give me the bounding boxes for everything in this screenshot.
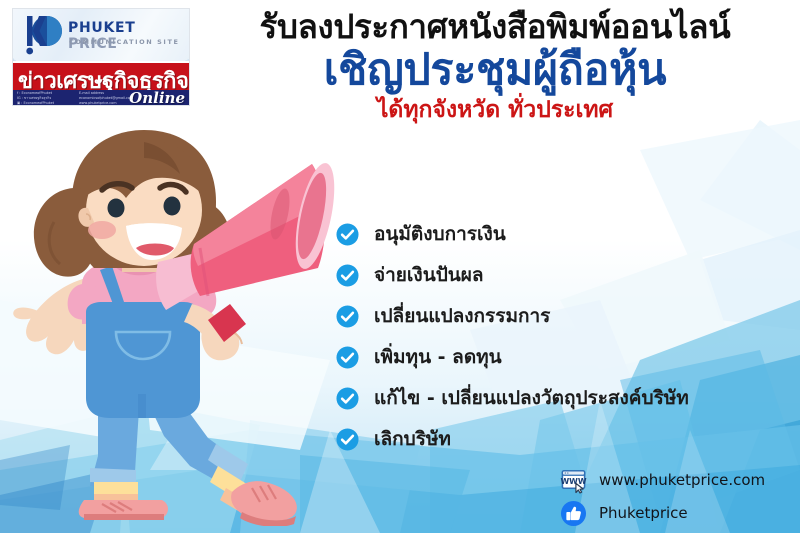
browser-www-icon: WWW	[560, 467, 587, 494]
footer-contact-block: WWW www.phuketprice.com Phuketprice	[560, 464, 765, 530]
list-item[interactable]: จ่ายเงินปันผล	[336, 255, 689, 296]
promo-poster: PHUKET PRICE COMMUNICATION SITE ข่าวเศรษ…	[0, 0, 800, 533]
facebook-thumbs-up-icon	[560, 500, 587, 527]
logo-online-label: Online	[129, 89, 185, 106]
logo-wordmark: PHUKET PRICE	[68, 19, 189, 51]
logo-k-mark-icon	[21, 13, 65, 57]
headline-block: รับลงประกาศหนังสือพิมพ์ออนไลน์ เชิญประชุ…	[195, 6, 795, 125]
check-circle-icon	[336, 428, 359, 451]
logo-contact-col1: f : EconomeofPhuketIG : ขาวเศรษฐกิจธุรกิ…	[17, 91, 54, 106]
headline-line-2: เชิญประชุมผู้ถือหุ้น	[195, 45, 795, 97]
list-item-label: อนุมัติงบการเงิน	[374, 225, 506, 244]
list-item[interactable]: อนุมัติงบการเงิน	[336, 214, 689, 255]
check-circle-icon	[336, 223, 359, 246]
logo-contact-col2: E-mail addresseconomicsofphuket@gmail.co…	[79, 91, 133, 106]
logo-red-banner: ข่าวเศรษฐกิจธุรกิจ f : EconomeofPhuketIG…	[13, 61, 189, 106]
phuket-price-logo[interactable]: PHUKET PRICE COMMUNICATION SITE ข่าวเศรษ…	[12, 8, 190, 106]
feature-list: อนุมัติงบการเงิน จ่ายเงินปันผล เปลี่ยนแป…	[336, 214, 689, 460]
girl-with-megaphone-illustration	[0, 126, 340, 526]
facebook-label: Phuketprice	[599, 506, 688, 521]
svg-text:WWW: WWW	[560, 477, 586, 486]
list-item-label: เลิกบริษัท	[374, 430, 451, 449]
check-circle-icon	[336, 387, 359, 410]
list-item[interactable]: แก้ไข - เปลี่ยนแปลงวัตถุประสงค์บริษัท	[336, 378, 689, 419]
list-item-label: จ่ายเงินปันผล	[374, 266, 484, 285]
logo-tagline: COMMUNICATION SITE	[69, 38, 180, 46]
list-item-label: แก้ไข - เปลี่ยนแปลงวัตถุประสงค์บริษัท	[374, 389, 689, 408]
list-item-label: เพิ่มทุน - ลดทุน	[374, 348, 502, 367]
list-item[interactable]: เลิกบริษัท	[336, 419, 689, 460]
website-label: www.phuketprice.com	[599, 473, 765, 488]
check-circle-icon	[336, 264, 359, 287]
list-item[interactable]: เพิ่มทุน - ลดทุน	[336, 337, 689, 378]
list-item-label: เปลี่ยนแปลงกรรมการ	[374, 307, 550, 326]
logo-top-panel: PHUKET PRICE COMMUNICATION SITE	[13, 9, 189, 61]
headline-line-1: รับลงประกาศหนังสือพิมพ์ออนไลน์	[195, 6, 795, 47]
check-circle-icon	[336, 305, 359, 328]
logo-name-part1: PHUKET	[68, 20, 136, 36]
website-link[interactable]: WWW www.phuketprice.com	[560, 464, 765, 497]
facebook-link[interactable]: Phuketprice	[560, 497, 765, 530]
check-circle-icon	[336, 346, 359, 369]
headline-line-3: ได้ทุกจังหวัด ทั่วประเทศ	[195, 96, 795, 125]
list-item[interactable]: เปลี่ยนแปลงกรรมการ	[336, 296, 689, 337]
poster-header: PHUKET PRICE COMMUNICATION SITE ข่าวเศรษ…	[0, 0, 800, 155]
